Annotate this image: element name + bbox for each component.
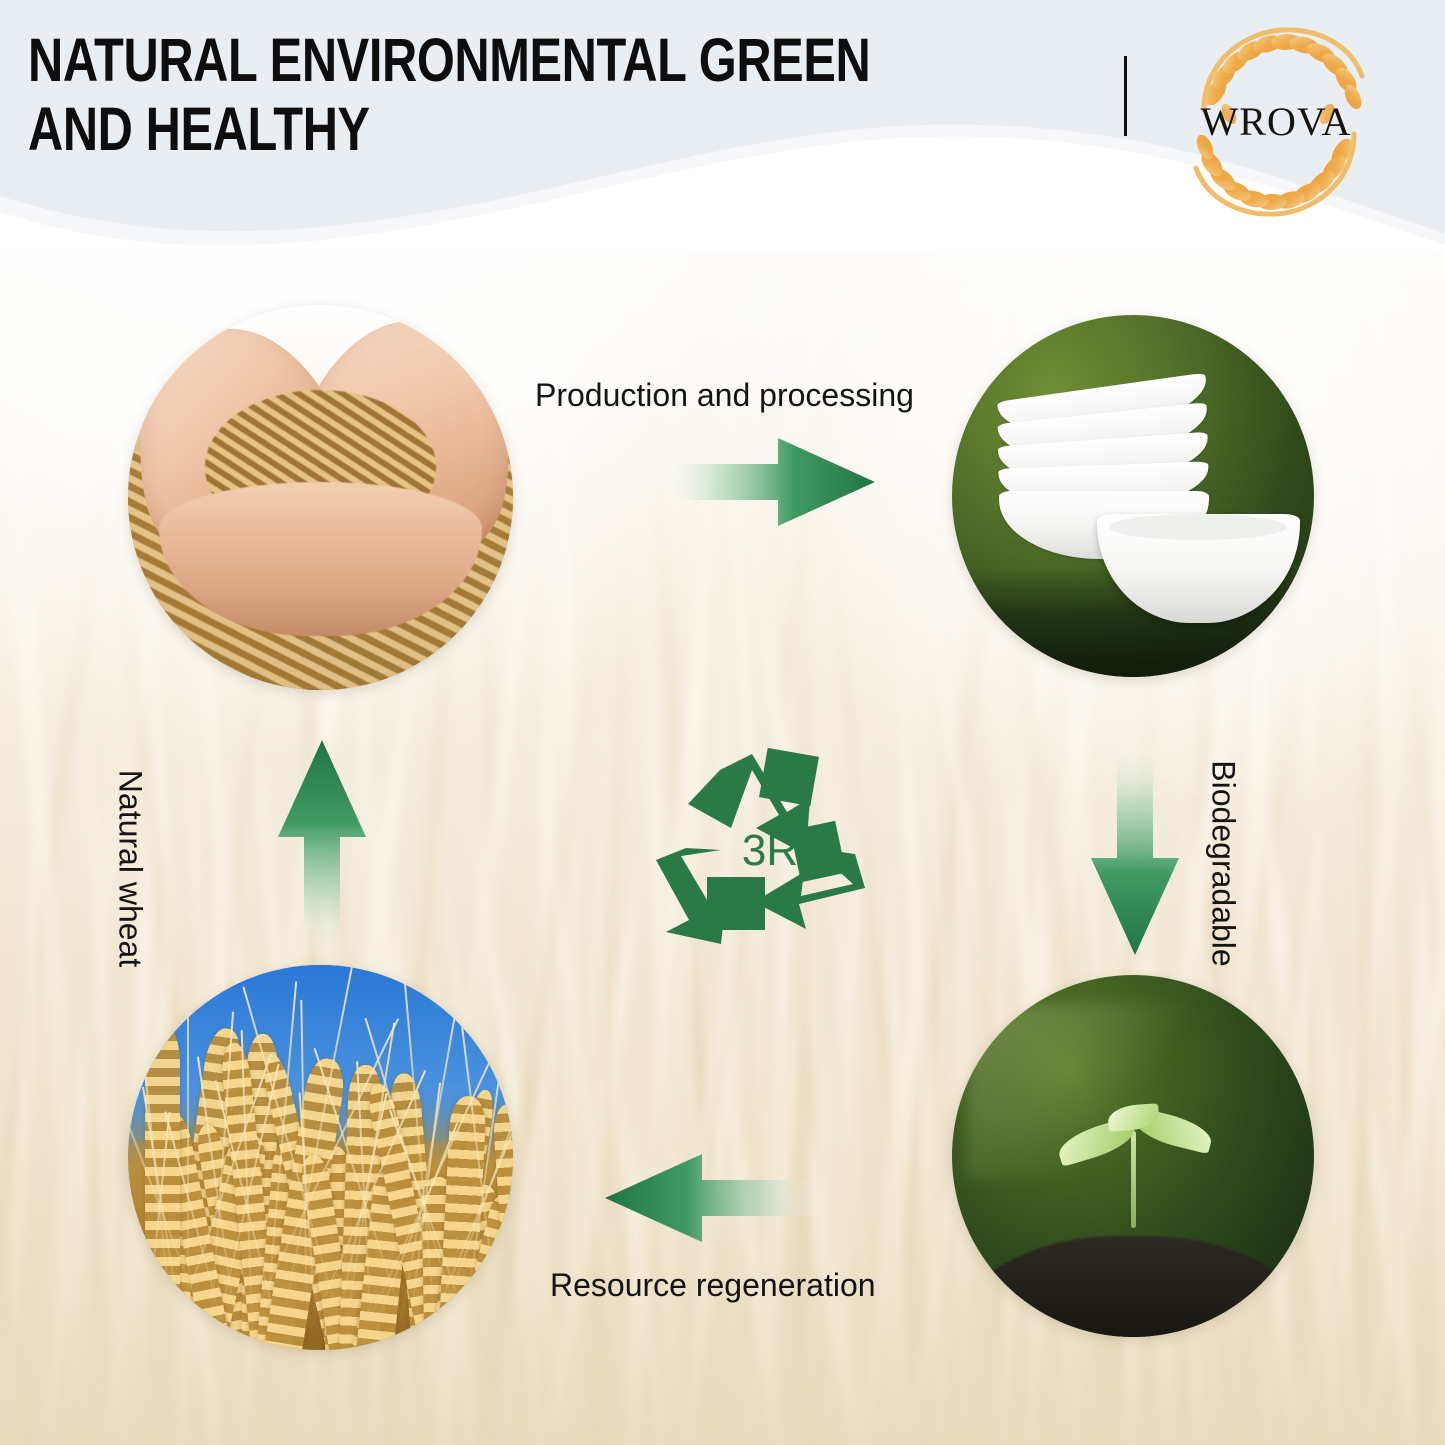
arrow-biodegradable: [1085, 740, 1185, 955]
golden-wheat-field-photo: [128, 965, 513, 1350]
soil-mound: [952, 1236, 1314, 1337]
label-production-and-processing: Production and processing: [535, 377, 914, 414]
wheat-ears: [128, 965, 513, 1350]
recycle-symbol: 3R: [645, 730, 895, 980]
arrow-left-icon: [605, 1148, 820, 1248]
infographic-page: NATURAL ENVIRONMENTAL GREEN AND HEALTHY: [0, 0, 1445, 1445]
arrow-production-and-processing: [660, 432, 875, 532]
green-seedling-sprout-photo: [952, 975, 1314, 1337]
brand-logo: WROVA: [1156, 18, 1396, 218]
arrow-resource-regeneration: [605, 1148, 820, 1248]
arrow-down-icon: [1085, 740, 1185, 955]
label-biodegradable: Biodegradable: [1205, 704, 1242, 1024]
stacked-white-bowls-photo: [952, 315, 1314, 677]
hands-holding-wheat-grain-photo: [128, 305, 513, 690]
arrow-natural-wheat: [272, 740, 372, 955]
header-divider: [1124, 56, 1127, 136]
logo-wordmark: WROVA: [1156, 102, 1396, 142]
header-band: NATURAL ENVIRONMENTAL GREEN AND HEALTHY: [0, 0, 1445, 250]
arrow-right-icon: [660, 432, 875, 532]
page-title: NATURAL ENVIRONMENTAL GREEN AND HEALTHY: [28, 26, 876, 164]
label-resource-regeneration: Resource regeneration: [550, 1267, 876, 1304]
sprout-stem: [1131, 1131, 1136, 1229]
recycle-3r-label: 3R: [645, 826, 895, 876]
arrow-up-icon: [272, 740, 372, 955]
label-natural-wheat: Natural wheat: [112, 709, 149, 1029]
